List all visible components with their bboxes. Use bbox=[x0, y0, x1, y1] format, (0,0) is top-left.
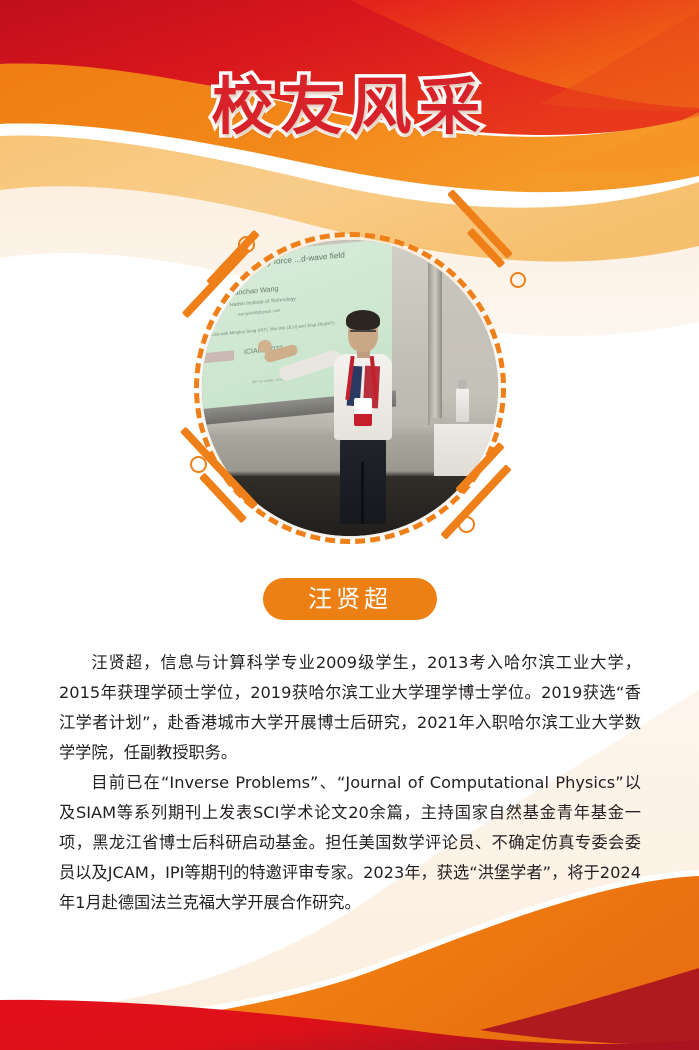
bio-paragraph-1: 汪贤超，信息与计算科学专业2009级学生，2013考入哈尔滨工业大学，2015年… bbox=[59, 648, 641, 768]
wave-darkred-corner bbox=[480, 968, 699, 1044]
bio-paragraph-2: 目前已在“Inverse Problems”、“Journal of Compu… bbox=[59, 768, 641, 918]
wave-red-bottom bbox=[0, 1000, 699, 1050]
circle-decoration-tr bbox=[510, 272, 526, 288]
biography-text: 汪贤超，信息与计算科学专业2009级学生，2013考入哈尔滨工业大学，2015年… bbox=[59, 648, 641, 918]
portrait-photo-area: ...lastic body force ...d-wave field Xia… bbox=[174, 212, 526, 564]
alumni-profile-poster: 校友风采 ...lastic body force ...d-wave fiel… bbox=[0, 0, 699, 1050]
circle-decoration-bl bbox=[190, 456, 207, 473]
circle-decoration-tl bbox=[238, 236, 255, 253]
page-title: 校友风采 bbox=[211, 74, 487, 141]
circle-decoration-br bbox=[458, 516, 475, 533]
alumni-name-badge: 汪贤超 bbox=[263, 578, 437, 620]
title-container: 校友风采 bbox=[0, 74, 699, 141]
